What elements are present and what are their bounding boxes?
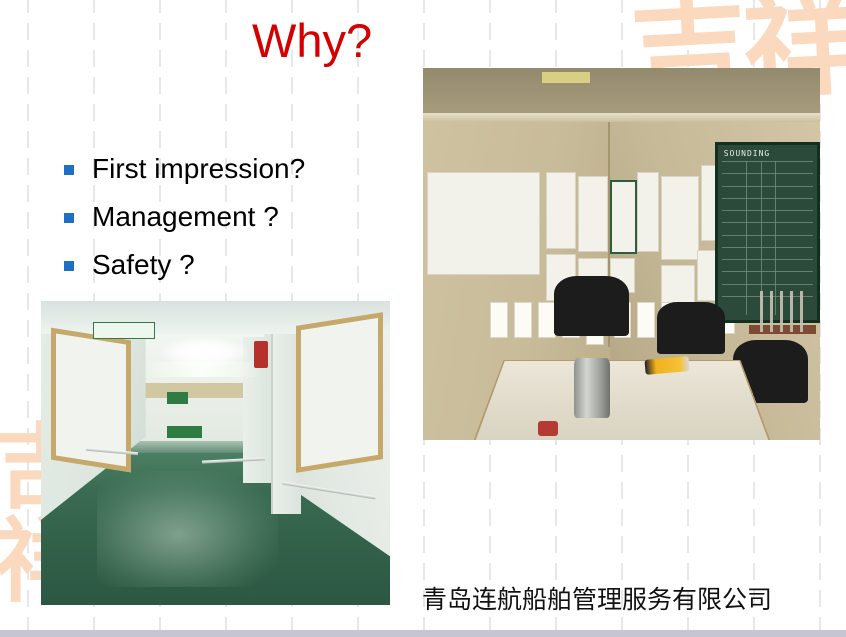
- square-bullet-icon: [64, 213, 74, 223]
- emergency-exit-icon: [167, 426, 202, 438]
- list-item-label: Management ?: [92, 200, 279, 234]
- slide-canvas: 吉祥 吉祥 Why? First impression? Management …: [0, 0, 846, 637]
- exit-sign-icon: [93, 322, 154, 339]
- list-item-label: Safety ?: [92, 248, 195, 282]
- emergency-exit-icon: [167, 392, 188, 404]
- page-title: Why?: [252, 14, 372, 68]
- square-bullet-icon: [64, 165, 74, 175]
- square-bullet-icon: [64, 261, 74, 271]
- ship-corridor-photo: [41, 301, 390, 605]
- ship-meeting-room-photo: SOUNDING: [423, 68, 820, 440]
- list-item: Safety ?: [64, 248, 404, 282]
- list-item: Management ?: [64, 200, 404, 234]
- sounding-board-label: SOUNDING: [724, 149, 771, 158]
- fire-extinguisher-icon: [254, 341, 268, 368]
- company-name-footer: 青岛连航船舶管理服务有限公司: [422, 586, 772, 614]
- list-item: First impression?: [64, 152, 404, 186]
- list-item-label: First impression?: [92, 152, 305, 186]
- bullet-list: First impression? Management ? Safety ?: [64, 152, 404, 296]
- bottom-status-bar: [0, 630, 846, 637]
